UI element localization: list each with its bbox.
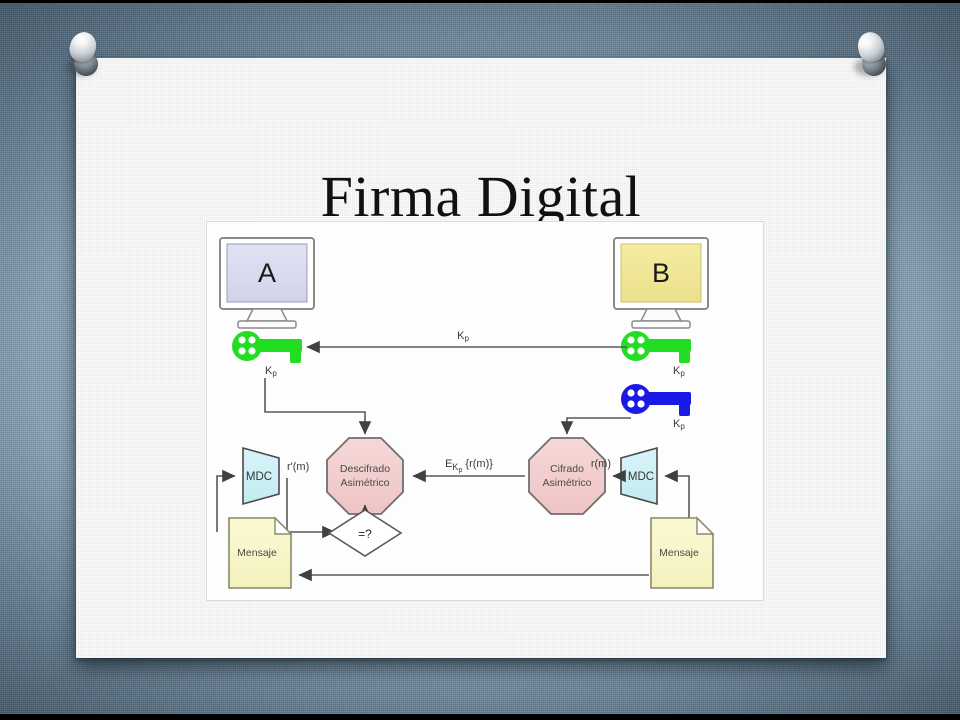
edge-keyb-to-cifrado — [567, 418, 631, 434]
document-right: Mensaje — [651, 518, 713, 588]
octagon-descifrado-line2: Asimétrico — [340, 477, 389, 489]
bottom-letterbox-bar — [0, 714, 960, 720]
edge-ciphertext-label: EKp {r(m)} — [445, 458, 493, 474]
edge-docright-to-mdcright — [665, 476, 689, 522]
slide-stage: Firma Digital — [0, 0, 960, 720]
edge-key-transfer-label: Kp — [457, 330, 469, 343]
top-letterbox-bar — [0, 0, 960, 3]
octagon-descifrado-line1: Descifrado — [340, 463, 390, 475]
octagon-descifrado: Descifrado Asimétrico — [327, 438, 403, 514]
edge-hash-left-label: r'(m) — [287, 461, 309, 473]
document-left-label: Mensaje — [237, 547, 277, 559]
document-right-label: Mensaje — [659, 547, 699, 559]
mdc-left-label: MDC — [246, 471, 272, 483]
mdc-right: MDC — [621, 448, 657, 504]
octagon-cifrado-line2: Asimétrico — [542, 477, 591, 489]
monitor-a: A — [220, 238, 314, 328]
key-a-label: Kp — [265, 365, 277, 378]
monitor-a-label: A — [258, 258, 276, 288]
octagon-cifrado-line1: Cifrado — [550, 463, 584, 475]
monitor-b: B — [614, 238, 708, 328]
compare-diamond: =? — [329, 510, 401, 556]
octagon-cifrado: Cifrado Asimétrico — [529, 438, 605, 514]
key-b-private-icon — [621, 384, 691, 416]
edge-hash-right-label: r(m) — [591, 458, 611, 470]
pushpin-left-icon — [64, 32, 108, 88]
document-left: Mensaje — [229, 518, 291, 588]
mdc-left: MDC — [243, 448, 279, 504]
key-a-icon — [232, 331, 302, 363]
page-title: Firma Digital — [76, 166, 886, 228]
compare-diamond-label: =? — [358, 527, 372, 541]
key-b-private-label: Kp — [673, 418, 685, 431]
edge-keya-to-descifrado — [265, 378, 365, 434]
monitor-b-label: B — [652, 258, 670, 288]
digital-signature-diagram: A B — [206, 221, 764, 601]
slide-paper: Firma Digital — [76, 58, 886, 658]
key-b-public-icon — [621, 331, 691, 363]
mdc-right-label: MDC — [628, 471, 654, 483]
key-b-public-label: Kp — [673, 365, 685, 378]
pushpin-right-icon — [852, 32, 896, 88]
